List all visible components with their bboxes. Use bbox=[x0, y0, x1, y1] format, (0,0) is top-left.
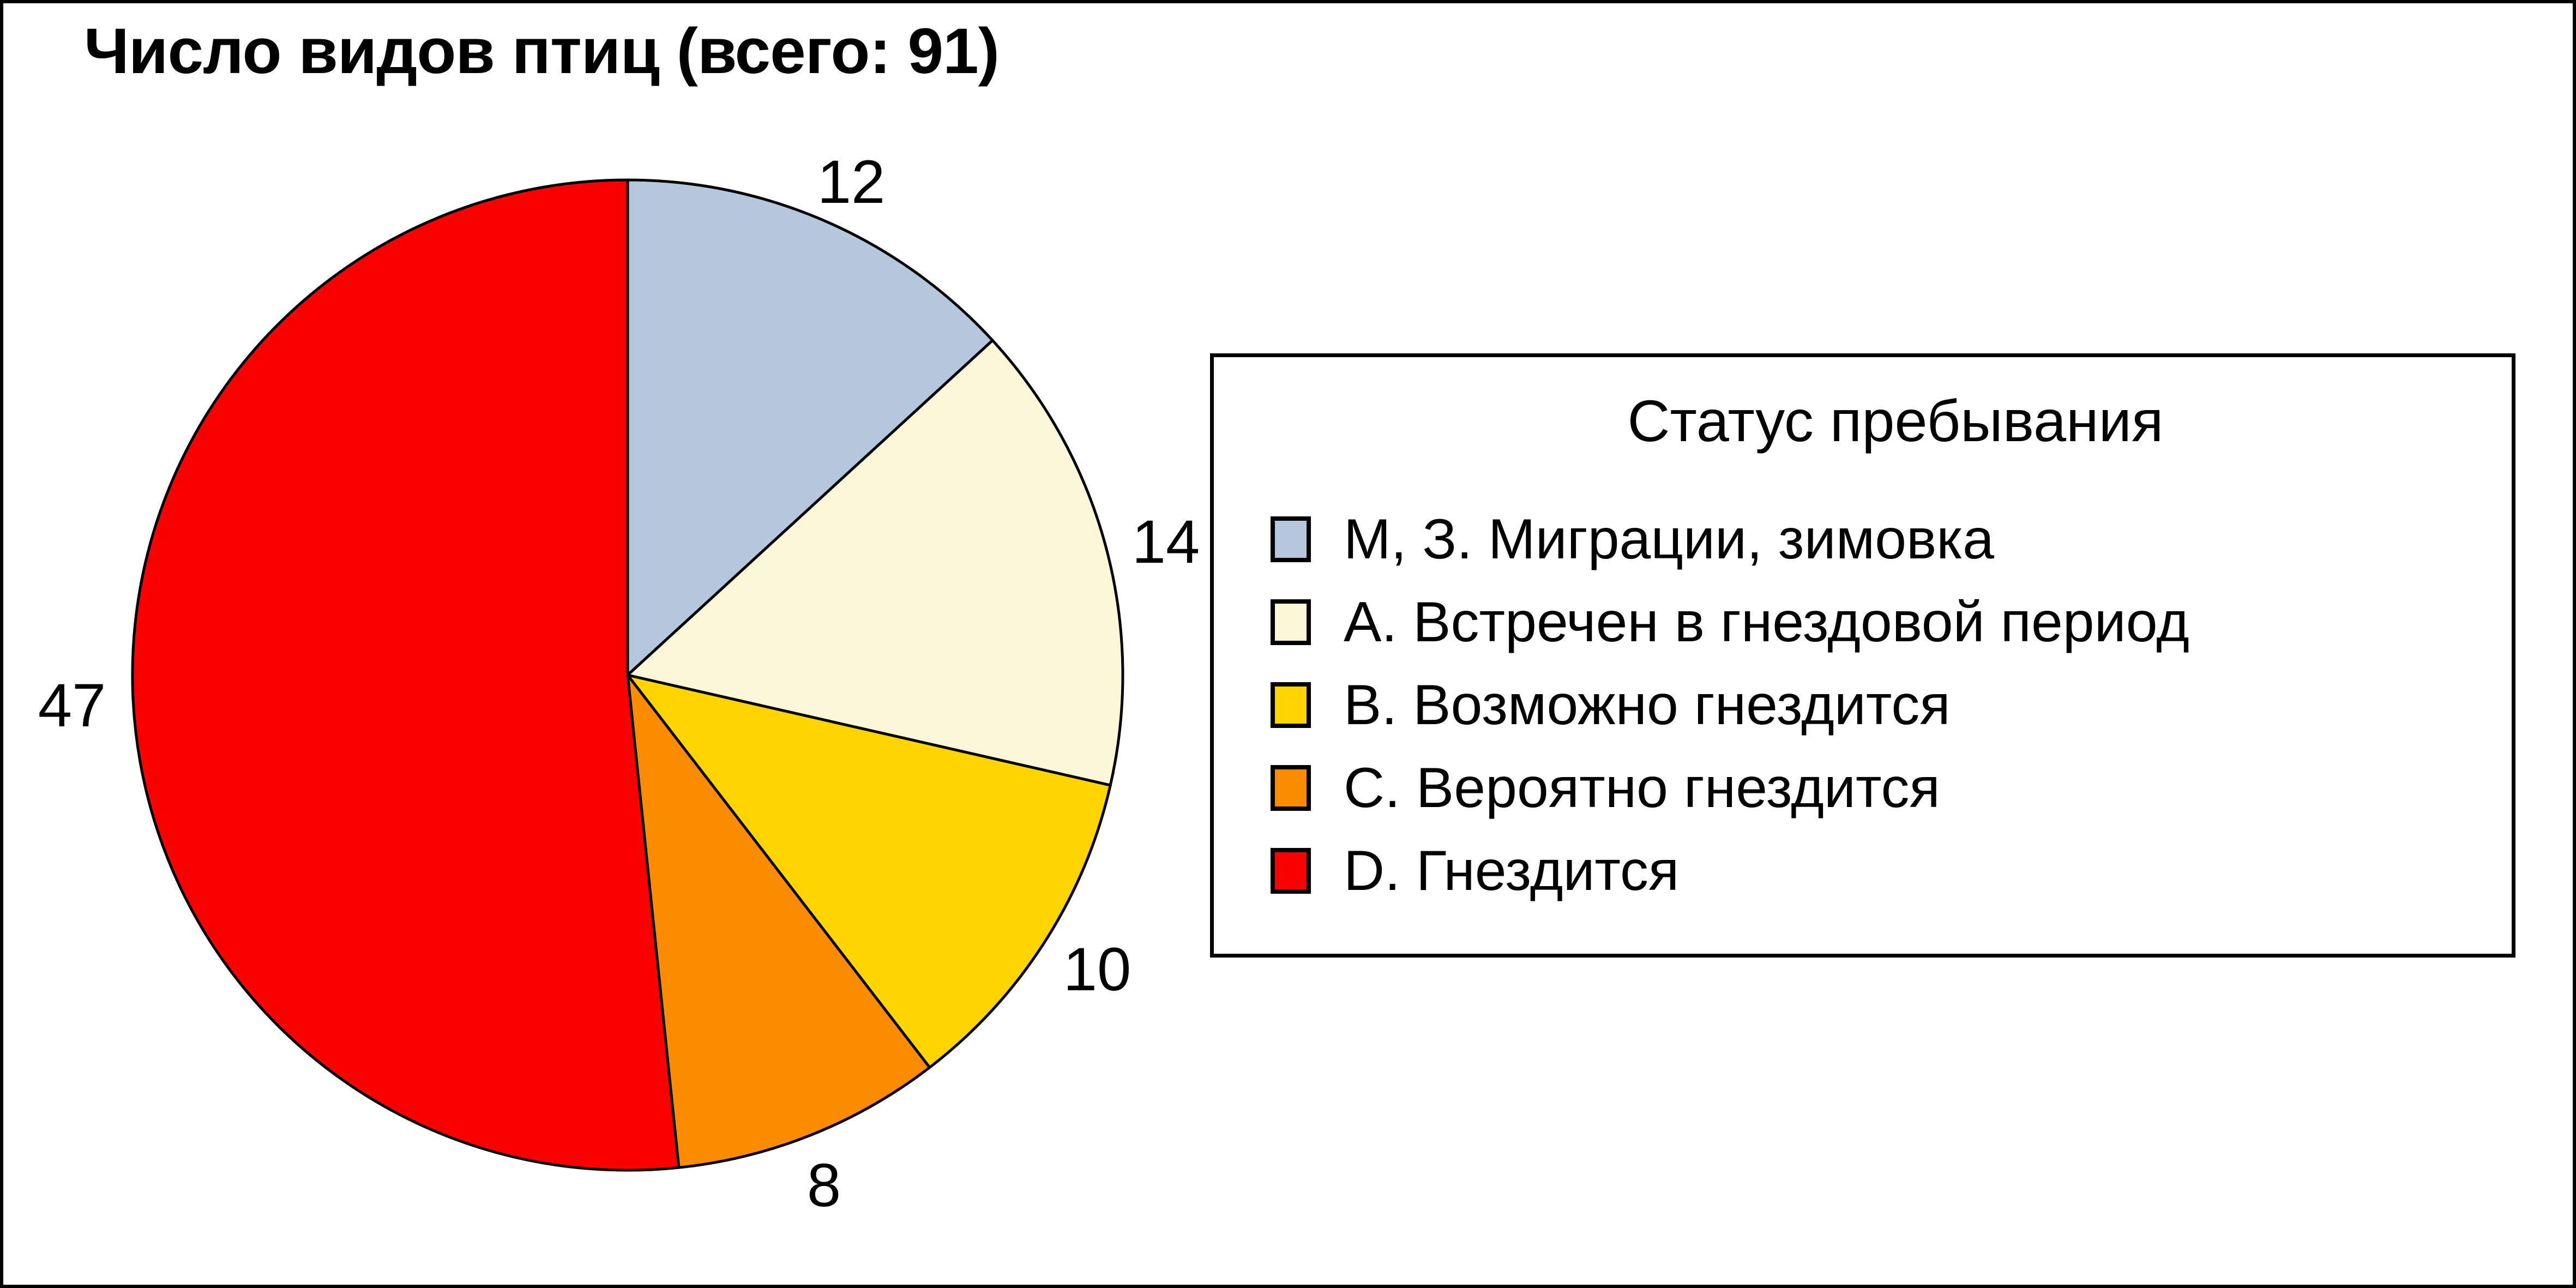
legend-item[interactable]: A. Встречен в гнездовой период bbox=[1271, 581, 2495, 664]
chart-canvas: Число видов птиц (всего: 91) 121410847 С… bbox=[0, 0, 2576, 1288]
pie-slice-value-label: 14 bbox=[1132, 511, 1200, 573]
legend-item[interactable]: C. Вероятно гнездится bbox=[1271, 747, 2495, 829]
legend-item[interactable]: D. Гнездится bbox=[1271, 829, 2495, 912]
legend-swatch-icon bbox=[1271, 848, 1311, 894]
legend-title: Статус пребывания bbox=[1214, 389, 2512, 454]
pie-slice-value-label: 10 bbox=[1063, 939, 1131, 1000]
pie-slice[interactable] bbox=[133, 180, 679, 1170]
legend-swatch-icon bbox=[1271, 599, 1311, 645]
pie-slice-value-label: 8 bbox=[807, 1155, 841, 1216]
legend-item[interactable]: B. Возможно гнездится bbox=[1271, 664, 2495, 747]
legend-swatch-icon bbox=[1271, 516, 1311, 562]
pie-svg bbox=[3, 3, 1257, 1288]
legend-swatch-icon bbox=[1271, 682, 1311, 728]
pie-slice-value-label: 12 bbox=[817, 152, 886, 213]
legend-item-label: B. Возможно гнездится bbox=[1344, 677, 1951, 733]
legend-item-label: C. Вероятно гнездится bbox=[1344, 760, 1940, 816]
pie-chart: 121410847 bbox=[3, 3, 1257, 1288]
legend: Статус пребывания M, З. Миграции, зимовк… bbox=[1210, 353, 2515, 958]
legend-item-label: D. Гнездится bbox=[1344, 842, 1679, 899]
pie-slice-value-label: 47 bbox=[38, 675, 106, 736]
legend-item-label: M, З. Миграции, зимовка bbox=[1344, 511, 1994, 568]
legend-items: M, З. Миграции, зимовкаA. Встречен в гне… bbox=[1271, 498, 2495, 912]
legend-item[interactable]: M, З. Миграции, зимовка bbox=[1271, 498, 2495, 581]
legend-swatch-icon bbox=[1271, 765, 1311, 811]
legend-item-label: A. Встречен в гнездовой период bbox=[1344, 594, 2189, 651]
